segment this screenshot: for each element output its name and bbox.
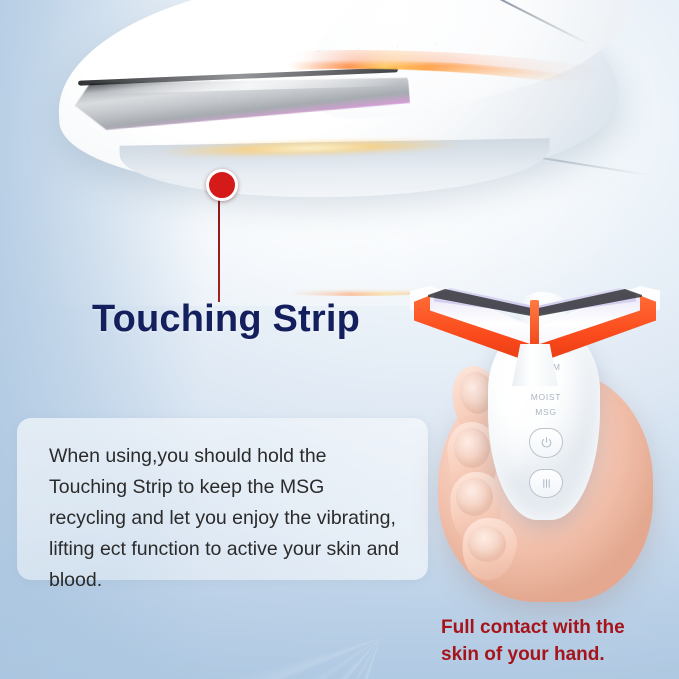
product-infographic: · · · · Touching Strip When using,you sh… (0, 0, 679, 679)
contact-caption: Full contact with the skin of your hand. (441, 614, 625, 668)
mode-label-msg: MSG (535, 407, 556, 417)
level-button[interactable] (529, 469, 563, 499)
contact-caption-line1: Full contact with the (441, 614, 625, 641)
orange-glow-arc (0, 60, 679, 296)
hand-holding-device: WARM ANTI MOIST MSG (398, 288, 679, 618)
info-card: When using,you should hold the Touching … (17, 418, 428, 580)
info-card-text: When using,you should hold the Touching … (49, 441, 404, 596)
hero-mark-4: · (435, 41, 438, 47)
hero-mark-3: · (396, 44, 399, 50)
pointer-dot-icon (206, 169, 238, 201)
level-bars-icon (540, 477, 553, 490)
mode-label-moist: MOIST (531, 392, 561, 402)
device-v-head (410, 286, 660, 381)
page-title: Touching Strip (92, 298, 360, 341)
hero-device-closeup: · · · · (0, 0, 679, 260)
power-button[interactable] (529, 428, 563, 458)
contact-caption-line2: skin of your hand. (441, 641, 625, 668)
power-icon (540, 436, 553, 449)
pointer-line (218, 190, 220, 302)
